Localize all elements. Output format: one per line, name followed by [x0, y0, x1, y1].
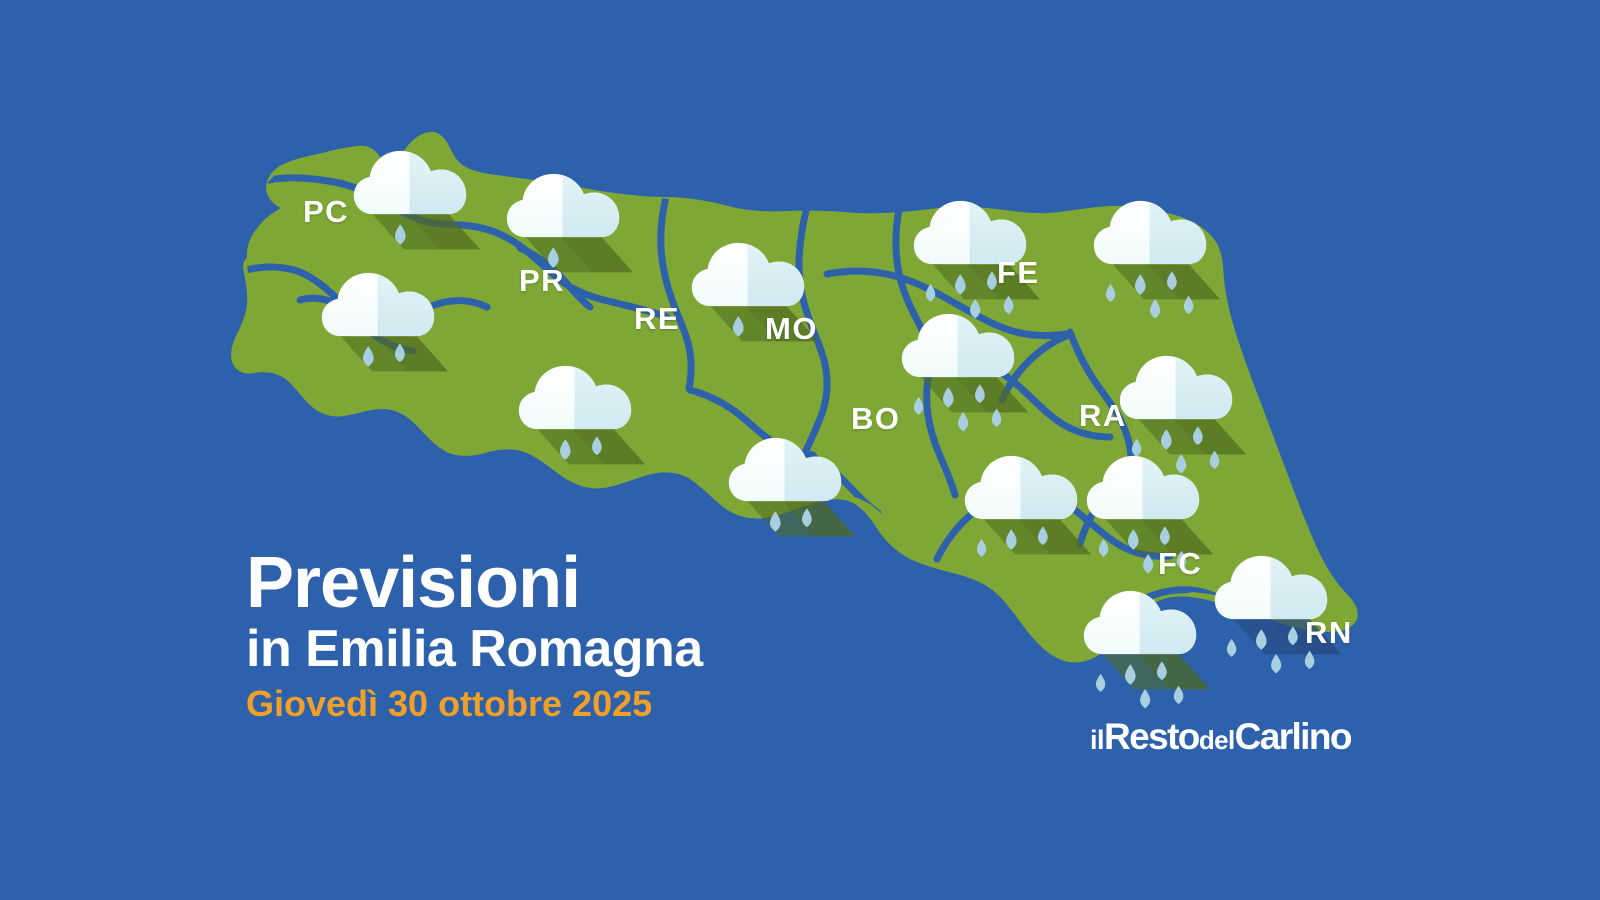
raindrop-icon	[1140, 689, 1150, 708]
province-label-fc: FC	[1158, 548, 1202, 579]
weather-infographic: PCPRREMOFEBORAFCRN Previsioni in Emilia …	[0, 0, 1600, 900]
cloud-body	[1087, 450, 1217, 524]
cloud-body	[1094, 195, 1224, 269]
cloud-body	[692, 237, 822, 311]
cloud-body	[354, 145, 484, 219]
cloud-rain-icon	[517, 355, 647, 505]
cloud-shadow-group	[1112, 264, 1220, 299]
brand-word-il: il	[1090, 725, 1104, 755]
cloud-body	[1084, 585, 1214, 659]
page-subtitle: in Emilia Romagna	[246, 623, 866, 676]
raindrop-icon	[1227, 639, 1236, 657]
brand-word-carlino: Carlino	[1235, 716, 1351, 757]
province-label-ra: RA	[1079, 400, 1127, 431]
forecast-date: Giovedì 30 ottobre 2025	[246, 686, 866, 722]
cloud-rain-icon	[320, 262, 450, 412]
cloud-body	[729, 432, 859, 506]
raindrop-icon	[1143, 554, 1153, 573]
raindrop-icon	[914, 397, 923, 415]
province-label-rn: RN	[1305, 617, 1353, 648]
province-label-mo: MO	[765, 313, 818, 344]
cloud-shadow-group	[1102, 654, 1210, 689]
cloud-shadow-group	[372, 214, 480, 249]
cloud-body	[1120, 350, 1250, 424]
cloud-shadow-group	[920, 377, 1028, 412]
cloud-rain-icon	[900, 303, 1030, 453]
brand-word-resto: Resto	[1104, 716, 1199, 757]
cloud-body	[519, 360, 649, 434]
province-label-pc: PC	[303, 196, 349, 227]
province-label-bo: BO	[851, 403, 901, 434]
raindrop-icon	[1150, 299, 1160, 318]
raindrop-icon	[977, 539, 986, 557]
raindrop-icon	[1271, 654, 1281, 673]
cloud-body	[322, 267, 452, 341]
cloud-shadow-group	[340, 336, 448, 371]
cloud-body	[507, 168, 637, 242]
cloud-shadow-group	[747, 501, 855, 536]
cloud-rain-icon	[963, 445, 1093, 595]
raindrop-icon	[1096, 674, 1105, 692]
raindrop-icon	[926, 284, 935, 302]
raindrop-icon	[1099, 539, 1108, 557]
province-label-fe: FE	[997, 257, 1040, 288]
cloud-shadow-group	[537, 429, 645, 464]
cloud-body	[902, 308, 1032, 382]
cloud-body	[1215, 550, 1345, 624]
raindrop-icon	[1106, 284, 1115, 302]
province-label-pr: PR	[519, 265, 565, 296]
brand-word-del: del	[1199, 725, 1235, 755]
page-title: Previsioni	[246, 548, 866, 619]
cloud-rain-icon	[1092, 190, 1222, 340]
cloud-rain-icon	[1082, 580, 1212, 730]
brand-logo: ilRestodelCarlino	[1090, 718, 1351, 755]
headline-block: Previsioni in Emilia Romagna Giovedì 30 …	[246, 548, 866, 722]
cloud-shadow-group	[983, 519, 1091, 554]
province-label-re: RE	[634, 303, 680, 334]
cloud-body	[965, 450, 1095, 524]
raindrop-icon	[958, 412, 968, 431]
cloud-rain-icon	[690, 232, 820, 382]
